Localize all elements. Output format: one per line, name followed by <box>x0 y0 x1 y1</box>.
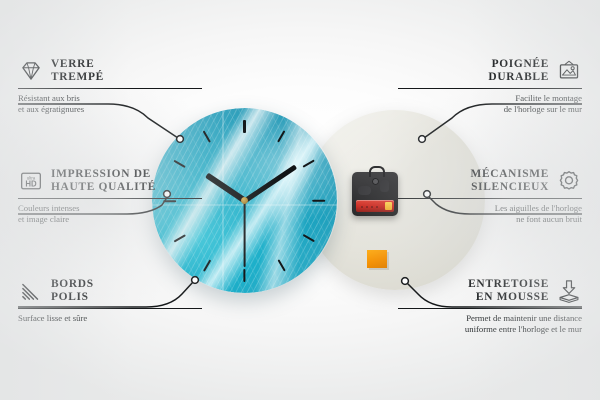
feature-mecanisme-silencieux: MÉCANISME SILENCIEUX Les aiguilles de l'… <box>398 168 582 225</box>
divider <box>18 308 202 309</box>
feature-subtitle-2: ne font aucun bruit <box>398 214 582 225</box>
divider <box>18 88 202 89</box>
feature-subtitle-1: Couleurs intenses <box>18 203 202 214</box>
feature-entretoise-en-mousse: ENTRETOISE EN MOUSSE Permet de maintenir… <box>398 278 582 335</box>
divider <box>398 308 582 309</box>
feature-poignee-durable: POIGNÉE DURABLE Facilite le montage de l… <box>398 58 582 115</box>
divider <box>18 198 202 199</box>
feature-subtitle-1: Permet de maintenir une distance <box>398 313 582 324</box>
ultra-hd-icon: ultra HD <box>18 168 44 194</box>
polished-edges-icon <box>18 278 44 304</box>
feature-header: MÉCANISME SILENCIEUX <box>398 168 582 194</box>
clock-mechanism <box>352 172 398 216</box>
feature-subtitle-2: uniforme entre l'horloge et le mur <box>398 324 582 335</box>
feature-subtitle-1: Les aiguilles de l'horloge <box>398 203 582 214</box>
foam-spacer <box>367 250 387 268</box>
hands-center-cap <box>241 197 248 204</box>
feature-verre-trempe: VERRE TREMPÉ Résistant aux bris et aux é… <box>18 58 202 115</box>
feature-title: POIGNÉE DURABLE <box>488 58 549 83</box>
feature-title: BORDS POLIS <box>51 278 94 303</box>
product-infographic: VERRE TREMPÉ Résistant aux bris et aux é… <box>0 0 600 400</box>
feature-header: ultra HD IMPRESSION DE HAUTE QUALITÉ <box>18 168 202 194</box>
mechanism-detail-left <box>358 186 371 195</box>
feature-subtitle-1: Facilite le montage <box>398 93 582 104</box>
feature-header: POIGNÉE DURABLE <box>398 58 582 84</box>
feature-subtitle-1: Surface lisse et sûre <box>18 313 202 324</box>
feature-header: BORDS POLIS <box>18 278 202 304</box>
feature-title: IMPRESSION DE HAUTE QUALITÉ <box>51 168 156 193</box>
mechanism-spindle <box>372 178 379 185</box>
feature-title: ENTRETOISE EN MOUSSE <box>468 278 549 303</box>
foam-spacer-icon <box>556 278 582 304</box>
svg-text:HD: HD <box>25 179 37 188</box>
second-hand <box>244 201 246 267</box>
gear-icon <box>556 168 582 194</box>
feature-impression-haute-qualite: ultra HD IMPRESSION DE HAUTE QUALITÉ Cou… <box>18 168 202 225</box>
feature-title: VERRE TREMPÉ <box>51 58 104 83</box>
feature-header: VERRE TREMPÉ <box>18 58 202 84</box>
feature-subtitle-2: de l'horloge sur le mur <box>398 104 582 115</box>
divider <box>398 198 582 199</box>
mechanism-detail-right <box>380 180 389 192</box>
feature-title: MÉCANISME SILENCIEUX <box>471 168 549 193</box>
picture-hanger-icon <box>556 58 582 84</box>
divider <box>398 88 582 89</box>
diamond-icon <box>18 58 44 84</box>
battery-label <box>361 206 381 208</box>
feature-subtitle-2: et aux égratignures <box>18 104 202 115</box>
feature-subtitle-2: et image claire <box>18 214 202 225</box>
feature-subtitle-1: Résistant aux bris <box>18 93 202 104</box>
feature-bords-polis: BORDS POLIS Surface lisse et sûre <box>18 278 202 324</box>
clock-tick <box>243 269 245 282</box>
hanger-hook-icon <box>369 166 385 177</box>
clock-tick <box>313 199 326 201</box>
feature-header: ENTRETOISE EN MOUSSE <box>398 278 582 304</box>
